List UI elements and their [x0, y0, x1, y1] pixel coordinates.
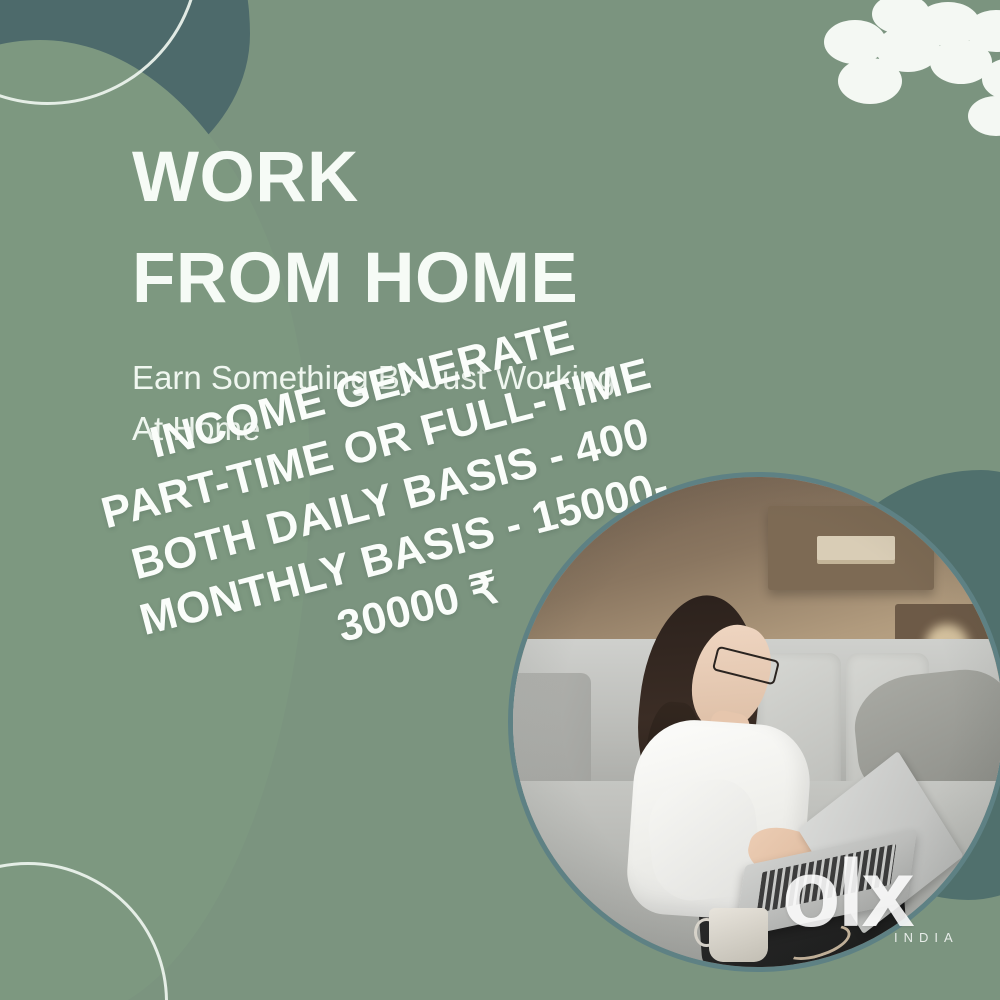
decor-dot [838, 58, 902, 104]
photo-vignette [513, 477, 1000, 967]
title-line-1: WORK [132, 128, 752, 229]
photo-illustration [513, 477, 1000, 967]
decor-dot [968, 96, 1000, 136]
poster-canvas: WORK FROM HOME Earn Something By Just Wo… [0, 0, 1000, 1000]
photo-circle [508, 472, 1000, 972]
